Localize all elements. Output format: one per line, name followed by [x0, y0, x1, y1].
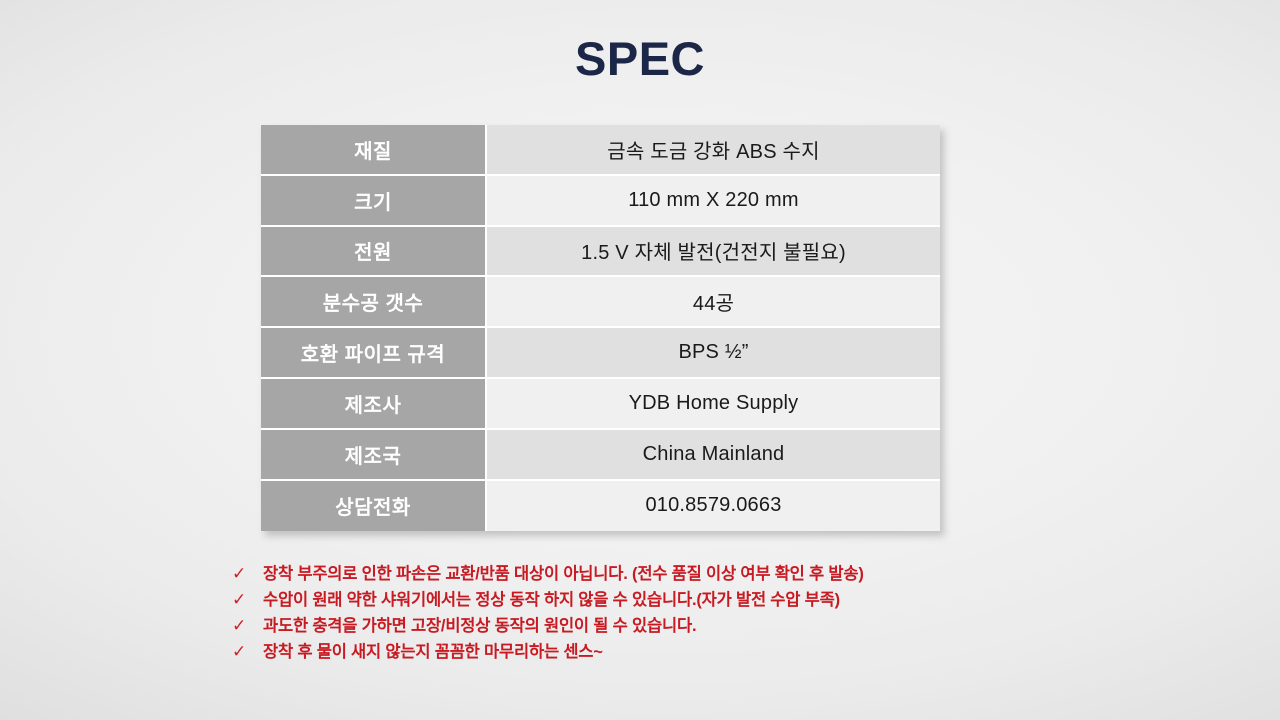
note-text: 장착 부주의로 인한 파손은 교환/반품 대상이 아닙니다. (전수 품질 이상… [263, 561, 864, 587]
spec-label-nozzle-count: 분수공 갯수 [261, 277, 487, 328]
spec-label-manufacturer: 제조사 [261, 379, 487, 430]
table-row: 제조사 YDB Home Supply [261, 379, 940, 430]
spec-label-power: 전원 [261, 227, 487, 278]
spec-value-power: 1.5 V 자체 발전(건전지 불필요) [487, 227, 940, 278]
spec-value-pipe-spec: BPS ½” [487, 328, 940, 379]
spec-label-material: 재질 [261, 125, 487, 176]
spec-value-size: 110 mm X 220 mm [487, 176, 940, 227]
spec-table-body: 재질 금속 도금 강화 ABS 수지 크기 110 mm X 220 mm 전원… [261, 125, 940, 531]
spec-value-phone: 010.8579.0663 [487, 481, 940, 532]
list-item: ✓ 과도한 충격을 가하면 고장/비정상 동작의 원인이 될 수 있습니다. [232, 613, 1132, 639]
table-row: 크기 110 mm X 220 mm [261, 176, 940, 227]
list-item: ✓ 수압이 원래 약한 샤워기에서는 정상 동작 하지 않을 수 있습니다.(자… [232, 587, 1132, 613]
spec-label-pipe-spec: 호환 파이프 규격 [261, 328, 487, 379]
list-item: ✓ 장착 후 물이 새지 않는지 꼼꼼한 마무리하는 센스~ [232, 639, 1132, 665]
spec-value-country: China Mainland [487, 430, 940, 481]
table-row: 상담전화 010.8579.0663 [261, 481, 940, 532]
table-row: 전원 1.5 V 자체 발전(건전지 불필요) [261, 227, 940, 278]
spec-label-phone: 상담전화 [261, 481, 487, 532]
check-icon: ✓ [232, 587, 263, 613]
note-text: 장착 후 물이 새지 않는지 꼼꼼한 마무리하는 센스~ [263, 639, 603, 665]
spec-label-country: 제조국 [261, 430, 487, 481]
table-row: 분수공 갯수 44공 [261, 277, 940, 328]
check-icon: ✓ [232, 639, 263, 665]
table-row: 재질 금속 도금 강화 ABS 수지 [261, 125, 940, 176]
spec-value-manufacturer: YDB Home Supply [487, 379, 940, 430]
page-title: SPEC [0, 34, 1280, 83]
check-icon: ✓ [232, 613, 263, 639]
note-text: 수압이 원래 약한 샤워기에서는 정상 동작 하지 않을 수 있습니다.(자가 … [263, 587, 840, 613]
caution-notes: ✓ 장착 부주의로 인한 파손은 교환/반품 대상이 아닙니다. (전수 품질 … [232, 561, 1132, 665]
list-item: ✓ 장착 부주의로 인한 파손은 교환/반품 대상이 아닙니다. (전수 품질 … [232, 561, 1132, 587]
spec-value-nozzle-count: 44공 [487, 277, 940, 328]
table-row: 제조국 China Mainland [261, 430, 940, 481]
spec-value-material: 금속 도금 강화 ABS 수지 [487, 125, 940, 176]
spec-table: 재질 금속 도금 강화 ABS 수지 크기 110 mm X 220 mm 전원… [261, 125, 940, 531]
note-text: 과도한 충격을 가하면 고장/비정상 동작의 원인이 될 수 있습니다. [263, 613, 696, 639]
check-icon: ✓ [232, 561, 263, 587]
table-row: 호환 파이프 규격 BPS ½” [261, 328, 940, 379]
spec-label-size: 크기 [261, 176, 487, 227]
